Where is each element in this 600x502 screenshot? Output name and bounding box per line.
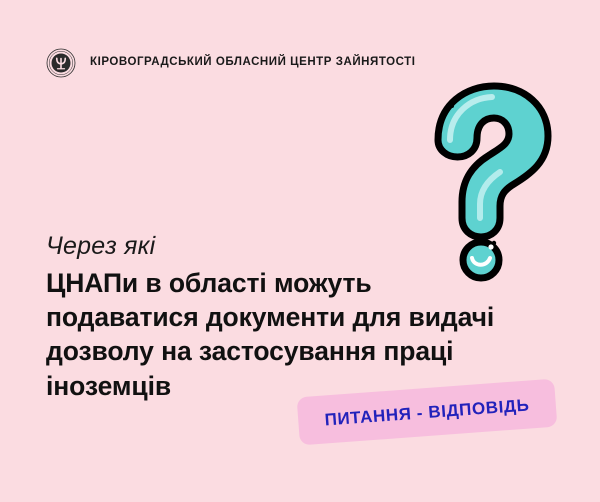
brand-header: КІРОВОГРАДСЬКИЙ ОБЛАСНИЙ ЦЕНТР ЗАЙНЯТОСТ…: [46, 48, 416, 78]
headline-block: Через які ЦНАПи в області можуть подават…: [46, 232, 546, 403]
poster-canvas: КІРОВОГРАДСЬКИЙ ОБЛАСНИЙ ЦЕНТР ЗАЙНЯТОСТ…: [0, 0, 600, 502]
headline-kicker: Через які: [46, 232, 546, 262]
badge-label: ПИТАННЯ - ВІДПОВІДЬ: [324, 396, 530, 428]
page-title: ЦНАПи в області можуть подаватися докуме…: [46, 266, 516, 404]
organization-name: КІРОВОГРАДСЬКИЙ ОБЛАСНИЙ ЦЕНТР ЗАЙНЯТОСТ…: [90, 57, 416, 69]
employment-center-emblem-icon: [46, 48, 76, 78]
